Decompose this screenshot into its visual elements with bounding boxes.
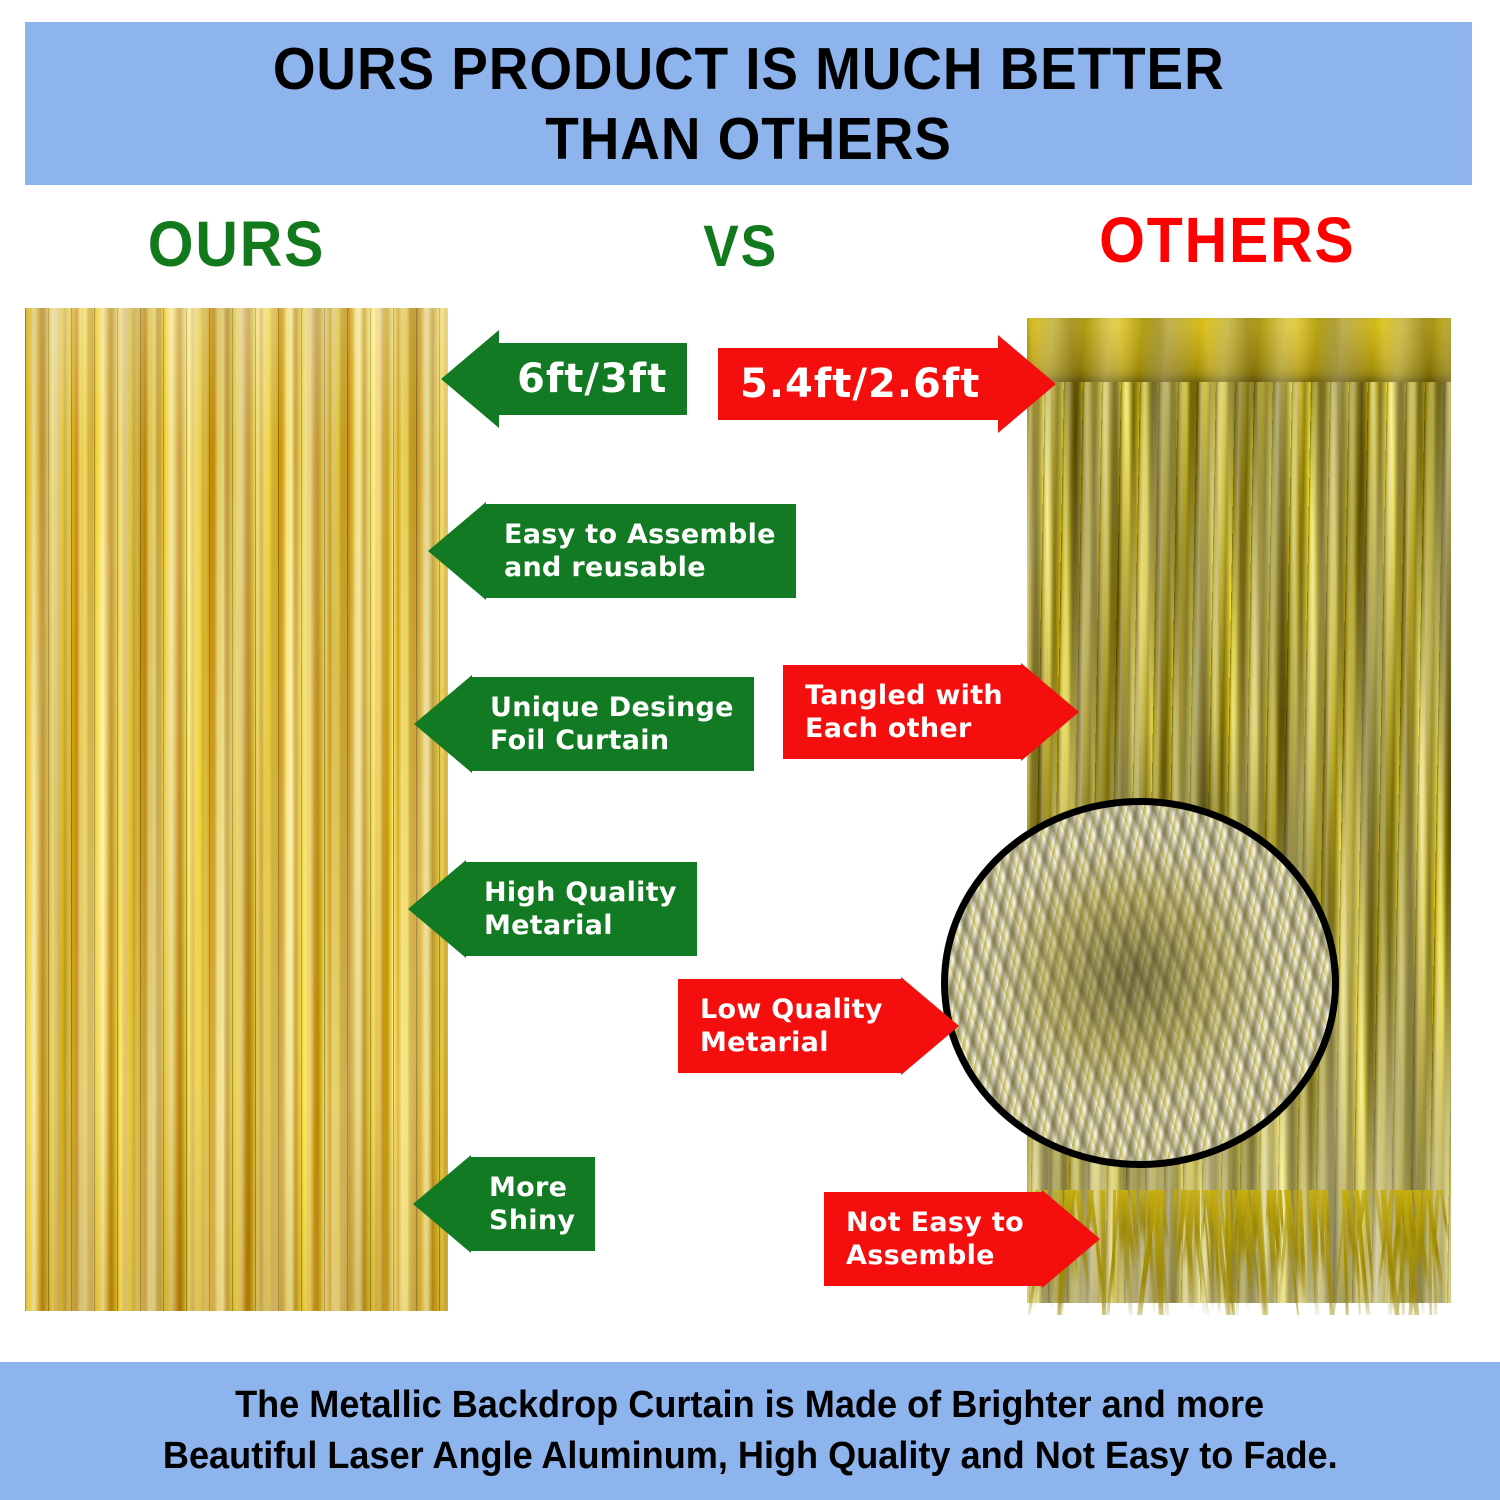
callout-body: More Shiny	[471, 1157, 595, 1251]
arrow-left-icon	[413, 1155, 471, 1253]
callout-body: 5.4ft/2.6ft	[718, 348, 998, 420]
arrow-right-icon	[1021, 663, 1079, 761]
callout-label: Low Quality Metarial	[700, 993, 883, 1059]
ours-curtain-image	[25, 308, 448, 1311]
callout-label: Easy to Assemble and reusable	[504, 518, 776, 584]
callout-body: High Quality Metarial	[466, 862, 697, 956]
callout-ours-size: 6ft/3ft	[441, 330, 687, 428]
header-title-line-1: OURS PRODUCT IS MUCH BETTER	[273, 34, 1225, 104]
footer-text-line-2: Beautiful Laser Angle Aluminum, High Qua…	[163, 1431, 1338, 1482]
header-banner: OURS PRODUCT IS MUCH BETTER THAN OTHERS	[25, 22, 1472, 185]
arrow-right-icon	[998, 335, 1056, 433]
callout-others-size: 5.4ft/2.6ft	[718, 335, 1056, 433]
callout-ours-assemble: Easy to Assemble and reusable	[428, 502, 796, 600]
arrow-left-icon	[414, 675, 472, 773]
callout-label: High Quality Metarial	[484, 876, 677, 942]
callout-label: Not Easy to Assemble	[846, 1206, 1024, 1272]
callout-ours-quality: High Quality Metarial	[408, 860, 697, 958]
callout-label: Unique Desinge Foil Curtain	[490, 691, 734, 757]
arrow-left-icon	[441, 330, 499, 428]
arrow-left-icon	[408, 860, 466, 958]
callout-label: 5.4ft/2.6ft	[740, 362, 980, 406]
arrow-left-icon	[428, 502, 486, 600]
callout-body: 6ft/3ft	[499, 343, 687, 415]
callout-others-not-easy: Not Easy to Assemble	[824, 1190, 1100, 1288]
column-title-vs: VS	[703, 215, 778, 279]
footer-text-line-1: The Metallic Backdrop Curtain is Made of…	[235, 1380, 1264, 1431]
arrow-right-icon	[1042, 1190, 1100, 1288]
callout-label: 6ft/3ft	[517, 357, 667, 401]
callout-ours-shiny: More Shiny	[413, 1155, 595, 1253]
column-title-ours: OURS	[148, 212, 325, 276]
column-title-others: OTHERS	[1099, 208, 1355, 272]
callout-body: Not Easy to Assemble	[824, 1192, 1042, 1286]
callout-others-low-quality: Low Quality Metarial	[678, 977, 959, 1075]
callout-body: Tangled with Each other	[783, 665, 1021, 759]
infographic-canvas: OURS PRODUCT IS MUCH BETTER THAN OTHERS …	[0, 0, 1500, 1500]
header-title-line-2: THAN OTHERS	[545, 104, 952, 174]
callout-label: Tangled with Each other	[805, 679, 1003, 745]
callout-others-tangled: Tangled with Each other	[783, 663, 1079, 761]
callout-body: Easy to Assemble and reusable	[486, 504, 796, 598]
callout-ours-design: Unique Desinge Foil Curtain	[414, 675, 754, 773]
footer-banner: The Metallic Backdrop Curtain is Made of…	[0, 1362, 1500, 1500]
callout-body: Low Quality Metarial	[678, 979, 901, 1073]
callout-label: More Shiny	[489, 1171, 575, 1237]
arrow-right-icon	[901, 977, 959, 1075]
callout-body: Unique Desinge Foil Curtain	[472, 677, 754, 771]
zoom-circle-icon	[941, 798, 1339, 1168]
